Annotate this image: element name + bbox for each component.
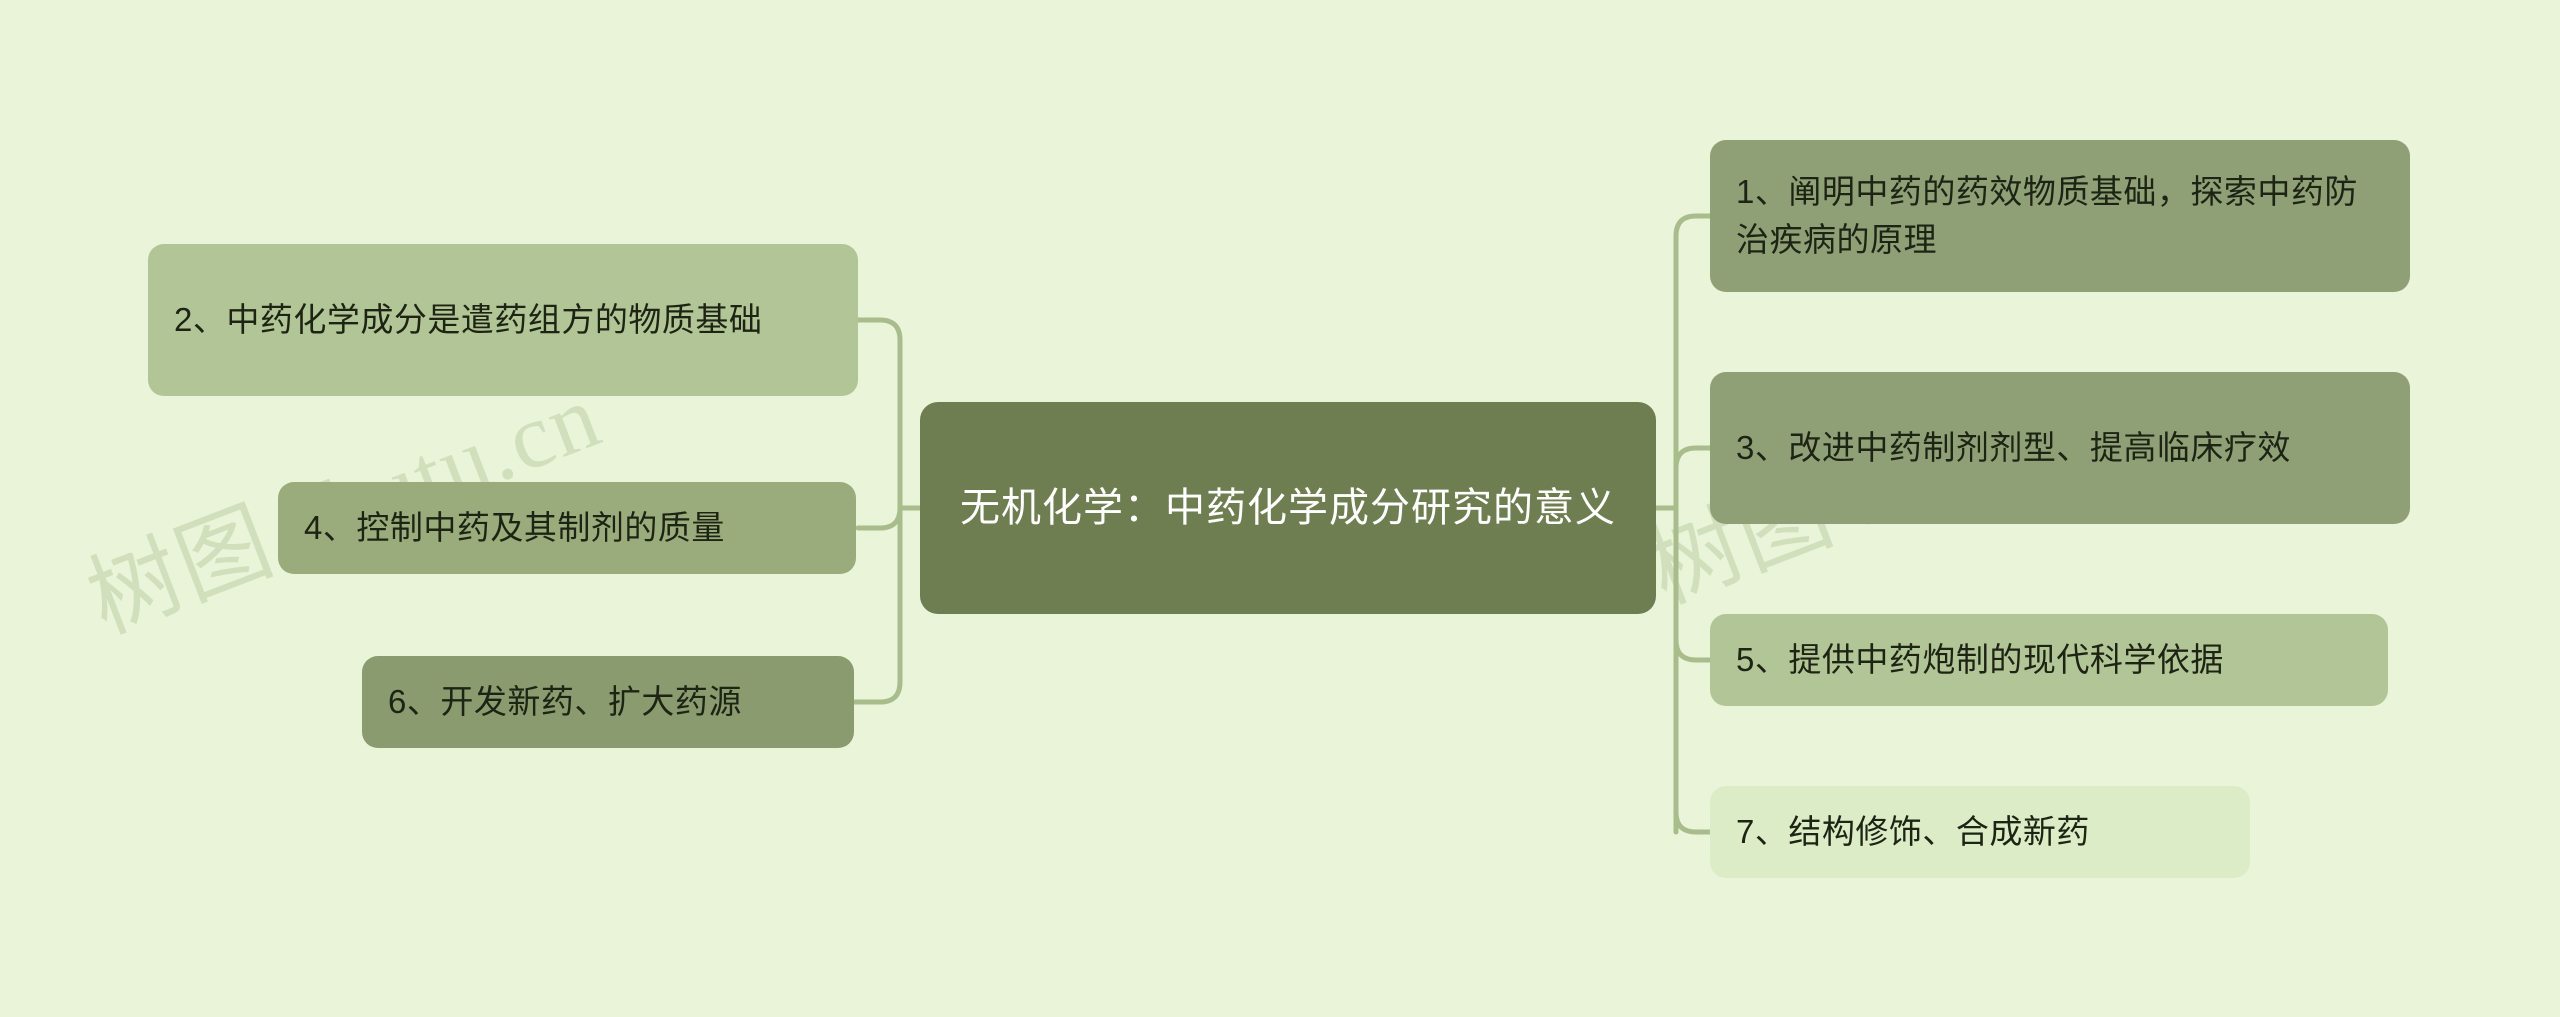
link-to-node-2 [858, 320, 900, 360]
branch-node-7-label: 7、结构修饰、合成新药 [1736, 808, 2224, 856]
branch-node-5[interactable]: 5、提供中药炮制的现代科学依据 [1710, 614, 2388, 706]
root-node-label: 无机化学：中药化学成分研究的意义 [950, 479, 1626, 537]
link-to-node-1 [1676, 216, 1710, 256]
branch-node-6[interactable]: 6、开发新药、扩大药源 [362, 656, 854, 748]
root-node[interactable]: 无机化学：中药化学成分研究的意义 [920, 402, 1656, 614]
link-to-node-5 [1676, 640, 1710, 660]
branch-node-2-label: 2、中药化学成分是遣药组方的物质基础 [174, 296, 832, 344]
branch-node-6-label: 6、开发新药、扩大药源 [388, 678, 828, 726]
branch-node-4[interactable]: 4、控制中药及其制剂的质量 [278, 482, 856, 574]
branch-node-7[interactable]: 7、结构修饰、合成新药 [1710, 786, 2250, 878]
branch-node-1-label: 1、阐明中药的药效物质基础，探索中药防治疾病的原理 [1736, 168, 2384, 264]
branch-node-4-label: 4、控制中药及其制剂的质量 [304, 504, 830, 552]
link-to-node-7 [1676, 812, 1710, 832]
link-to-node-4 [858, 508, 900, 528]
branch-node-3-label: 3、改进中药制剂剂型、提高临床疗效 [1736, 424, 2384, 472]
branch-node-3[interactable]: 3、改进中药制剂剂型、提高临床疗效 [1710, 372, 2410, 524]
branch-node-5-label: 5、提供中药炮制的现代科学依据 [1736, 636, 2362, 684]
link-to-node-6 [854, 682, 900, 702]
branch-node-1[interactable]: 1、阐明中药的药效物质基础，探索中药防治疾病的原理 [1710, 140, 2410, 292]
link-to-node-3 [1676, 448, 1710, 468]
mindmap-canvas: 树图 shutu.cn 树图 shutu.cn [0, 0, 2560, 1017]
branch-node-2[interactable]: 2、中药化学成分是遣药组方的物质基础 [148, 244, 858, 396]
